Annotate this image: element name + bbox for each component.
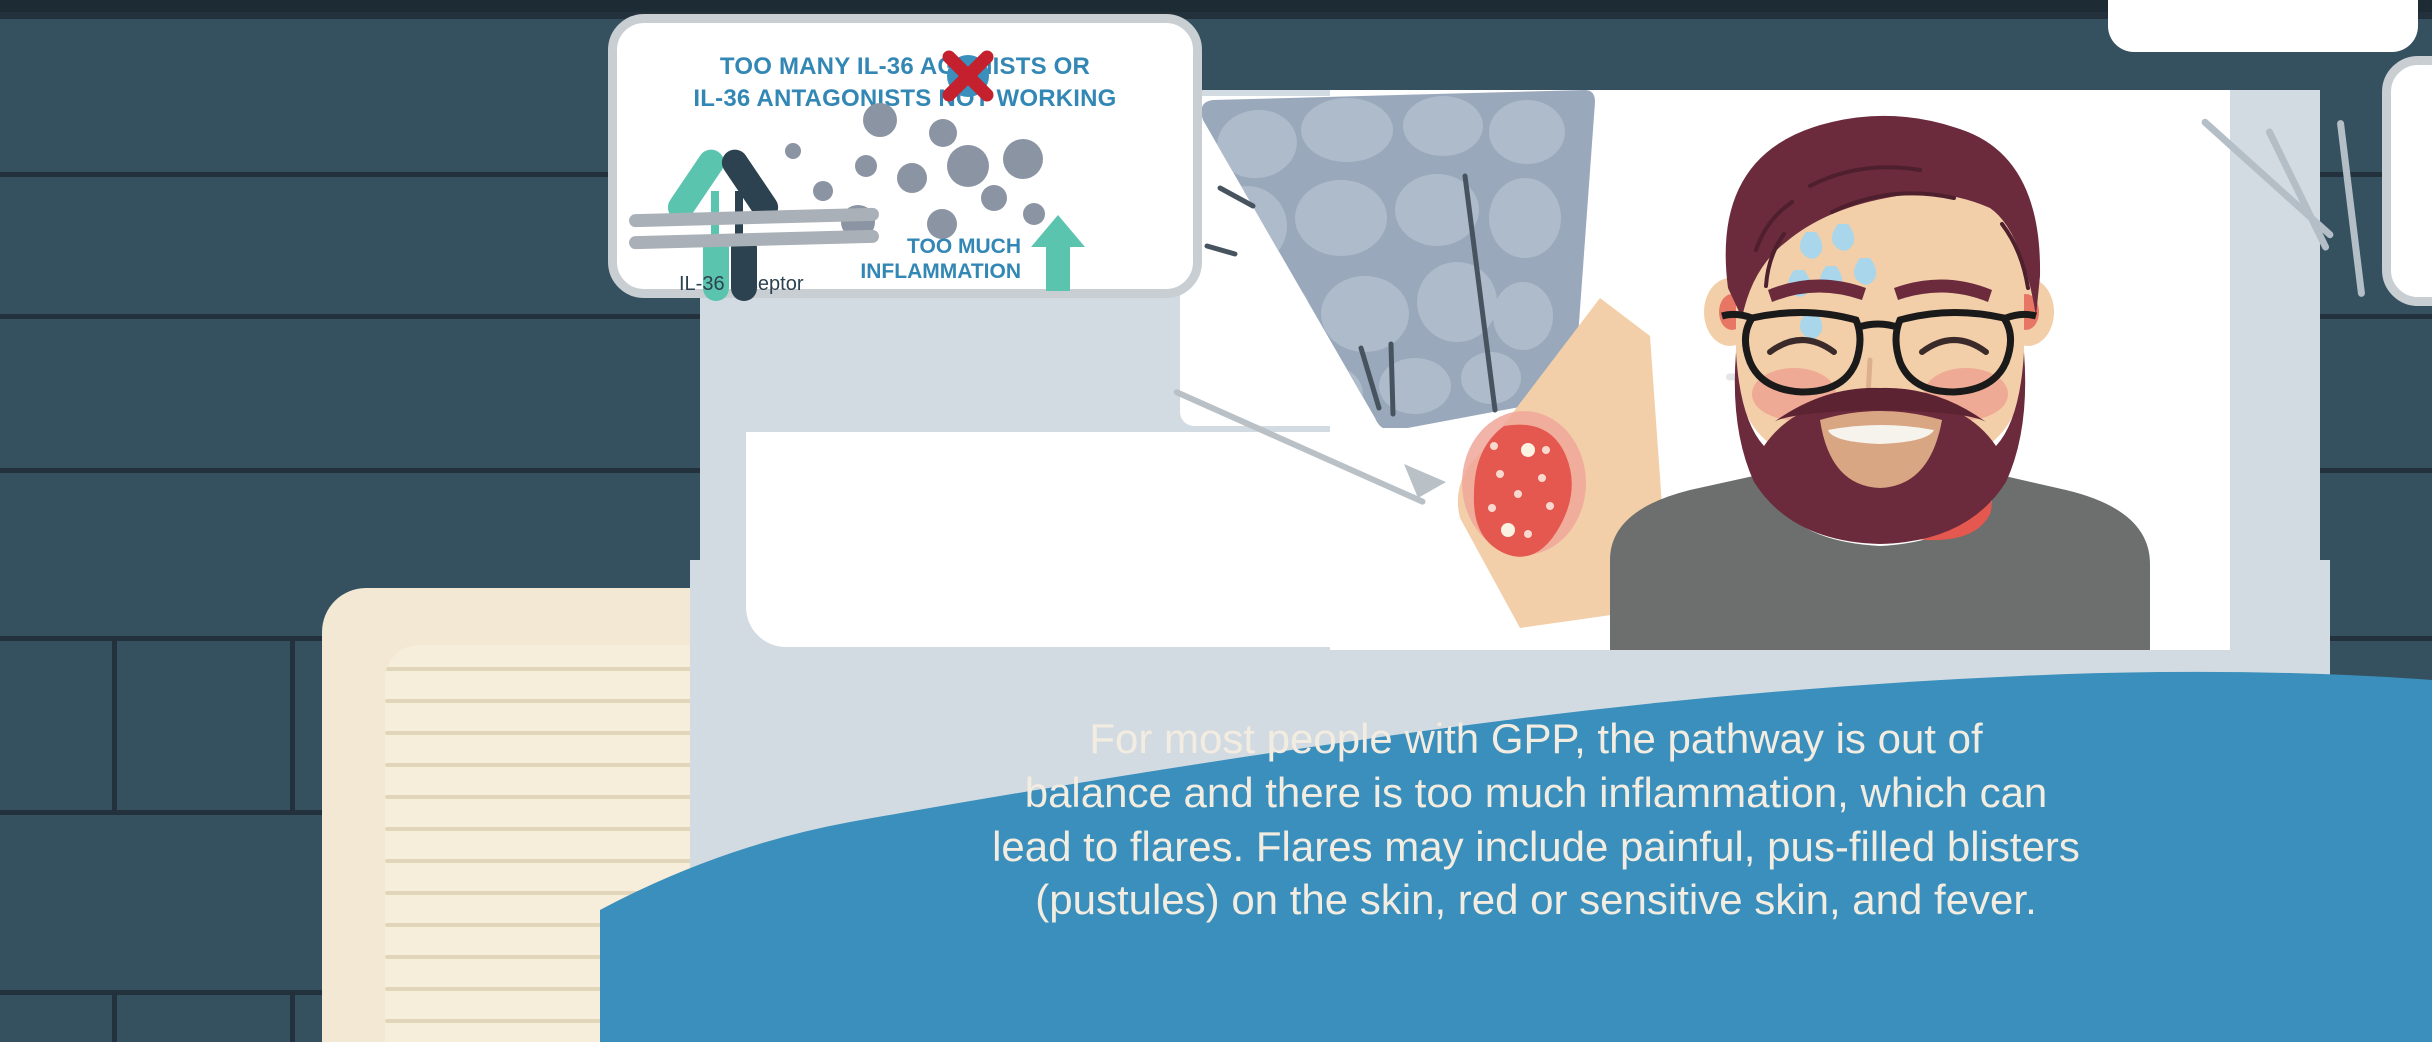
callout-title-line2: IL-36 ANTAGONISTS NOT WORKING xyxy=(617,83,1193,115)
cytokine-dot xyxy=(947,145,989,187)
red-x-icon xyxy=(935,43,1001,109)
body-line-4: (pustules) on the skin, red or sensitive… xyxy=(836,873,2236,927)
body-line-2: balance and there is too much inflammati… xyxy=(836,766,2236,820)
body-line-3: lead to flares. Flares may include painf… xyxy=(836,820,2236,874)
callout-title: TOO MANY IL-36 AGONISTS OR IL-36 ANTAGON… xyxy=(617,51,1193,115)
wall-joint xyxy=(112,641,117,810)
cytokine-dot xyxy=(863,103,897,137)
inflammation-line1: TOO MUCH xyxy=(795,235,1021,260)
illustration-canvas: TOO MANY IL-36 AGONISTS OR IL-36 ANTAGON… xyxy=(0,0,2432,1042)
cytokine-dot xyxy=(929,119,957,147)
patient-figure xyxy=(1570,90,2190,650)
wall-seam xyxy=(0,12,2432,19)
receptor-label: IL-36 receptor xyxy=(679,273,804,296)
body-paragraph: For most people with GPP, the pathway is… xyxy=(836,712,2236,927)
cytokine-dot xyxy=(981,185,1007,211)
inflammation-label: TOO MUCH INFLAMMATION xyxy=(795,235,1021,285)
cytokine-dot xyxy=(855,155,877,177)
inflammation-line2: INFLAMMATION xyxy=(795,260,1021,285)
body-line-1: For most people with GPP, the pathway is… xyxy=(836,712,2236,766)
callout-title-line1: TOO MANY IL-36 AGONISTS OR xyxy=(617,51,1193,83)
up-arrow-icon xyxy=(1029,213,1087,293)
cytokine-dot xyxy=(813,181,833,201)
right-edge-card[interactable] xyxy=(2382,56,2432,306)
callout-card[interactable]: TOO MANY IL-36 AGONISTS OR IL-36 ANTAGON… xyxy=(608,14,1202,298)
top-right-card[interactable] xyxy=(2108,0,2418,52)
cytokine-dot xyxy=(897,163,927,193)
cytokine-dot xyxy=(1003,139,1043,179)
wall-joint xyxy=(112,995,117,1042)
cytokine-dot xyxy=(785,143,801,159)
wall-joint xyxy=(290,995,295,1042)
wall-joint xyxy=(290,641,295,810)
